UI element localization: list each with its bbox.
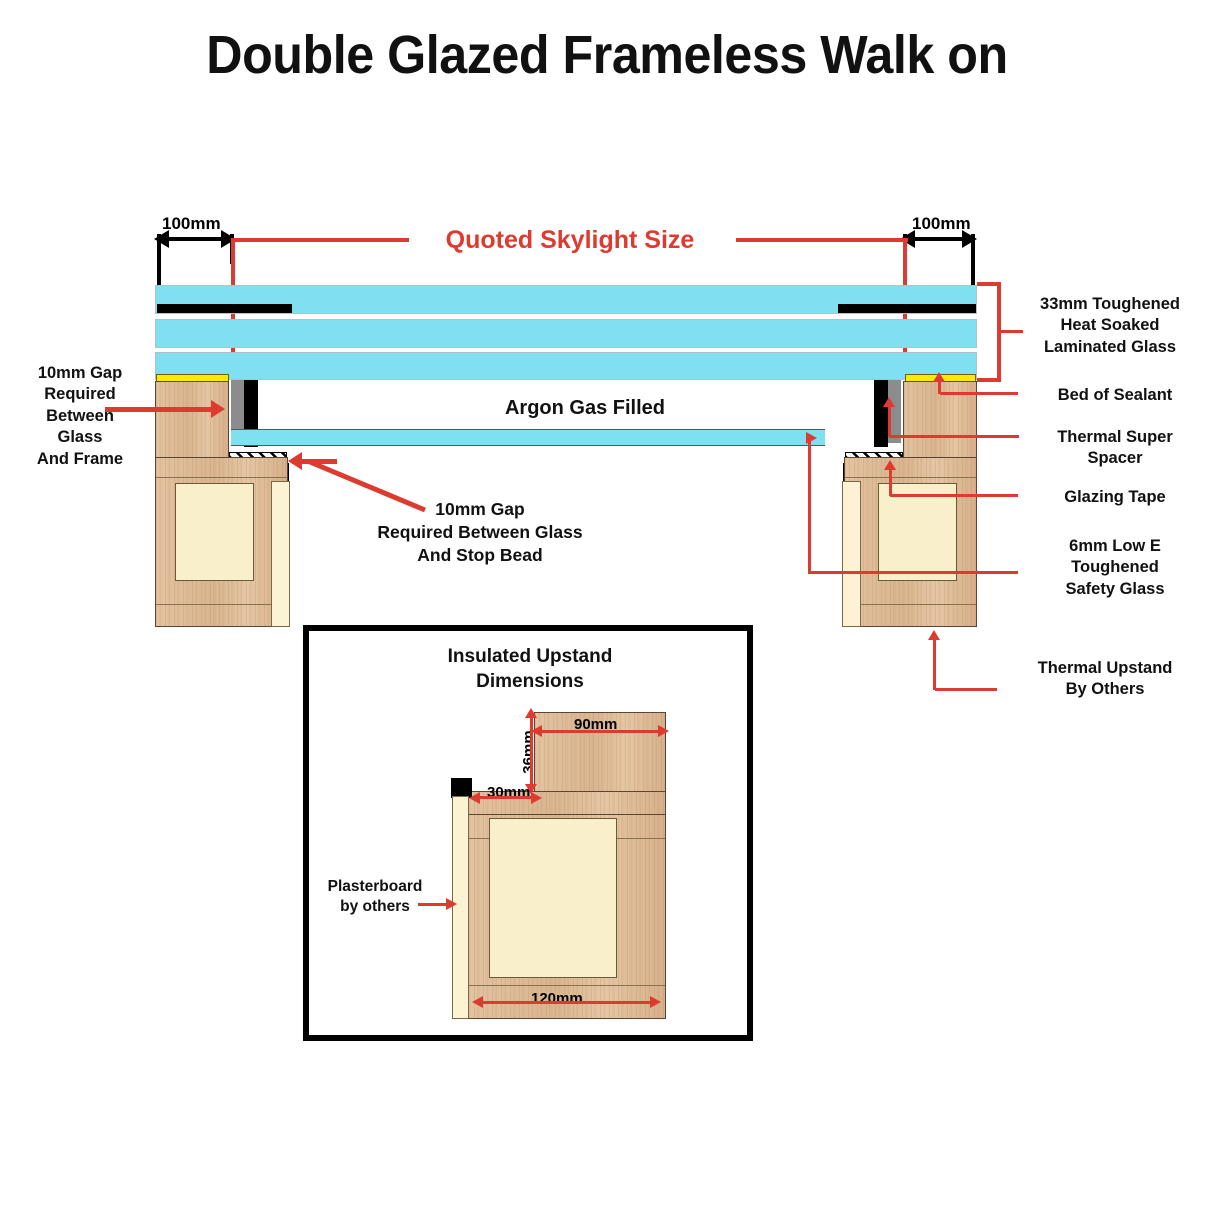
thermal-upstand-arrowhead <box>928 630 940 640</box>
gap-glass-frame-leader <box>105 407 213 412</box>
dimension-left-arrowhead-left <box>154 230 169 248</box>
thermal-upstand-label: Thermal Upstand By Others <box>1000 658 1210 701</box>
inset-plasterboard-arrowhead <box>446 898 457 910</box>
argon-gas-filled-label: Argon Gas Filled <box>420 395 750 421</box>
inset-dim-120mm-line <box>481 1001 653 1004</box>
gap-glass-frame-label: 10mm Gap Required Between Glass And Fram… <box>10 363 150 470</box>
inset-dim-36mm-line <box>530 716 533 788</box>
laminated-glass-bracket-bottom <box>977 378 999 382</box>
dimension-right-arrowhead-right <box>962 230 977 248</box>
laminated-glass-bracket-stem <box>999 330 1023 333</box>
upstand-left-seam-bottom <box>156 604 287 605</box>
inset-dim-30mm-line <box>478 796 534 799</box>
glass-pane-bottom <box>155 352 977 380</box>
gap-glass-frame-arrowhead <box>211 400 225 418</box>
thermal-upstand-leader-horizontal <box>935 688 997 691</box>
glazing-tape-arrowhead <box>884 460 896 470</box>
upstand-left-insulation-core <box>175 483 254 581</box>
inset-insulation-core <box>489 818 617 978</box>
inset-dim-120mm-label: 120mm <box>531 990 583 1007</box>
quoted-skylight-size-label: Quoted Skylight Size <box>400 224 740 257</box>
inset-plasterboard-label: Plasterboard by others <box>305 877 445 917</box>
thermal-upstand-leader-vertical <box>933 639 936 690</box>
quoted-size-leader-left <box>233 238 409 242</box>
inset-dim-30mm-arrowhead-left <box>469 792 480 804</box>
plasterboard-right <box>842 481 861 627</box>
page-title: Double Glazed Frameless Walk on <box>42 24 1171 86</box>
bed-of-sealant-arrowhead <box>933 372 945 382</box>
bed-of-sealant-leader-vertical <box>938 380 941 394</box>
bed-of-sealant-leader-horizontal <box>940 392 1018 395</box>
upstand-left-seam-top <box>156 477 287 478</box>
low-e-glass-leader-horizontal <box>808 571 1018 574</box>
upstand-right-insulation-core <box>878 483 957 581</box>
inset-dim-120mm-arrowhead-right <box>650 996 661 1008</box>
low-e-glass-label: 6mm Low E Toughened Safety Glass <box>1020 536 1210 600</box>
thermal-super-spacer-right-black <box>874 380 888 447</box>
dimension-left-100mm-label: 100mm <box>162 214 221 234</box>
upstand-right-seam-top <box>845 477 976 478</box>
thermal-super-spacer-label: Thermal Super Spacer <box>1020 427 1210 470</box>
inset-dim-36mm-arrowhead-up <box>525 708 537 718</box>
thermal-super-spacer-leader-vertical <box>888 405 891 437</box>
inset-plasterboard-leader <box>418 903 448 906</box>
inset-seam-bottom <box>465 985 665 986</box>
laminated-glass-bracket-top <box>977 282 999 286</box>
gap-stop-bead-arrowhead <box>288 452 302 470</box>
upstand-left-upper-wood <box>155 381 229 458</box>
low-e-glass-leader-vertical <box>808 437 811 573</box>
glazing-tape-leader-horizontal <box>890 494 1018 497</box>
glass-pane-middle <box>155 319 977 348</box>
quoted-size-leader-right <box>736 238 908 242</box>
low-e-glass-arrowhead <box>806 432 817 444</box>
glazing-tape-label: Glazing Tape <box>1020 487 1210 508</box>
gap-stop-bead-leader <box>280 440 430 515</box>
laminated-glass-label: 33mm Toughened Heat Soaked Laminated Gla… <box>1010 294 1210 358</box>
glass-black-strip-left <box>157 304 292 313</box>
bed-of-sealant-label: Bed of Sealant <box>1020 385 1210 406</box>
thermal-super-spacer-leader-horizontal <box>889 435 1019 438</box>
diagram-canvas: Double Glazed Frameless Walk on 100mm 10… <box>0 0 1214 1214</box>
inset-dim-90mm-arrowhead-right <box>658 725 669 737</box>
thermal-super-spacer-arrowhead <box>883 397 895 407</box>
inset-dim-90mm-line <box>540 730 660 733</box>
inset-dim-30mm-arrowhead-right <box>531 792 542 804</box>
glazing-tape-leader-vertical <box>889 468 892 496</box>
inset-dim-120mm-arrowhead-left <box>472 996 483 1008</box>
glass-black-strip-right <box>838 304 976 313</box>
inset-title: Insulated Upstand Dimensions <box>330 645 730 694</box>
upstand-right-seam-bottom <box>845 604 976 605</box>
